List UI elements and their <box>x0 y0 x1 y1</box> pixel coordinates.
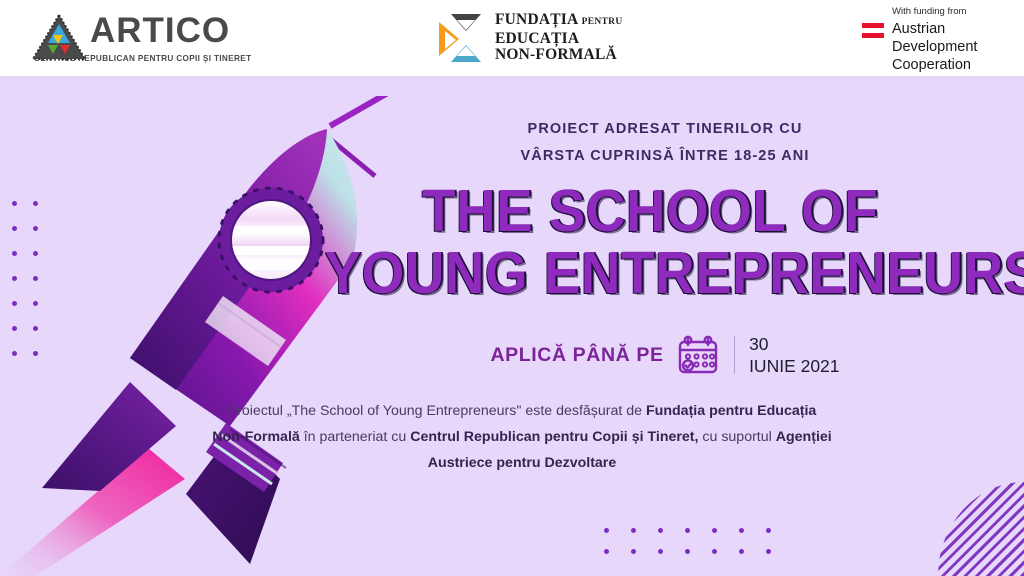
eyebrow-line-2: VÂRSTA CUPRINSĂ ÎNTRE 18-25 ANI <box>430 143 900 170</box>
decorative-dot <box>739 549 744 554</box>
decorative-dot <box>658 528 663 533</box>
deadline-day: 30 <box>749 333 839 355</box>
header-bar: ARTICO CENTRUL REPUBLICAN PENTRU COPII Ş… <box>0 0 1024 76</box>
artico-wordmark: ARTICO <box>90 12 230 50</box>
poster-body: PROIECT ADRESAT TINERILOR CU VÂRSTA CUPR… <box>0 76 1024 576</box>
title-line-1: THE SCHOOL OF <box>325 180 976 242</box>
eyebrow-line-1: PROIECT ADRESAT TINERILOR CU <box>430 116 900 143</box>
decorative-dot <box>766 549 771 554</box>
rocket-illustration <box>0 96 440 576</box>
with-funding-from-label: With funding from <box>892 6 966 17</box>
fen-logo: FUNDAȚIA PENTRU EDUCAȚIA NON-FORMALĂ <box>437 10 607 68</box>
decorative-dot <box>604 549 609 554</box>
austrian-development-cooperation-logo: With funding from Austrian Development C… <box>862 6 1012 72</box>
decorative-dot <box>685 528 690 533</box>
decorative-dot <box>631 549 636 554</box>
fen-line3: NON-FORMALĂ <box>495 47 623 64</box>
fen-line2: EDUCAȚIA <box>495 31 623 48</box>
adc-line1: Austrian <box>892 20 977 38</box>
artico-logo: ARTICO CENTRUL REPUBLICAN PENTRU COPII Ş… <box>32 12 252 68</box>
decorative-dot <box>685 549 690 554</box>
decorative-dots-bottom <box>604 528 784 558</box>
decorative-dot <box>658 549 663 554</box>
deadline-month-year: IUNIE 2021 <box>749 355 839 377</box>
decorative-dot <box>604 528 609 533</box>
adc-name: Austrian Development Cooperation <box>892 20 977 74</box>
description-paragraph: Proiectul „The School of Young Entrepren… <box>212 398 832 476</box>
deadline-row: APLICĂ PÂNĂ PE <box>430 329 900 381</box>
decorative-dot <box>739 528 744 533</box>
adc-line3: Cooperation <box>892 56 977 74</box>
fen-triangles-icon <box>437 12 489 64</box>
apply-label: APLICĂ PÂNĂ PE <box>490 344 663 367</box>
deadline-date: 30 IUNIE 2021 <box>749 333 839 377</box>
poster-canvas: ARTICO CENTRUL REPUBLICAN PENTRU COPII Ş… <box>0 0 1024 576</box>
blurb-org-artico: Centrul Republican pentru Copii și Tiner… <box>410 429 698 445</box>
title-line-2: YOUNG ENTREPRENEURS <box>325 242 976 304</box>
austria-flag-icon <box>862 23 884 39</box>
blurb-seg-1: Proiectul „The School of Young Entrepren… <box>228 403 646 419</box>
artico-tagline: CENTRUL REPUBLICAN PENTRU COPII ŞI TINER… <box>34 54 251 63</box>
fen-wordmark: FUNDAȚIA PENTRU EDUCAȚIA NON-FORMALĂ <box>495 12 623 64</box>
date-divider <box>734 336 736 374</box>
adc-line2: Development <box>892 38 977 56</box>
calendar-icon <box>676 334 720 376</box>
blurb-seg-3: cu suportul <box>698 429 775 445</box>
page-title: THE SCHOOL OF YOUNG ENTREPRENEURS <box>300 180 1000 304</box>
decorative-dot <box>712 549 717 554</box>
fen-line1-small: PENTRU <box>582 17 623 27</box>
decorative-dot <box>631 528 636 533</box>
eyebrow-text: PROIECT ADRESAT TINERILOR CU VÂRSTA CUPR… <box>430 116 900 170</box>
decorative-stripes-corner <box>938 482 1024 576</box>
fen-line1-main: FUNDAȚIA <box>495 11 578 28</box>
decorative-dot <box>712 528 717 533</box>
blurb-seg-2: în parteneriat cu <box>300 429 410 445</box>
decorative-dot <box>766 528 771 533</box>
